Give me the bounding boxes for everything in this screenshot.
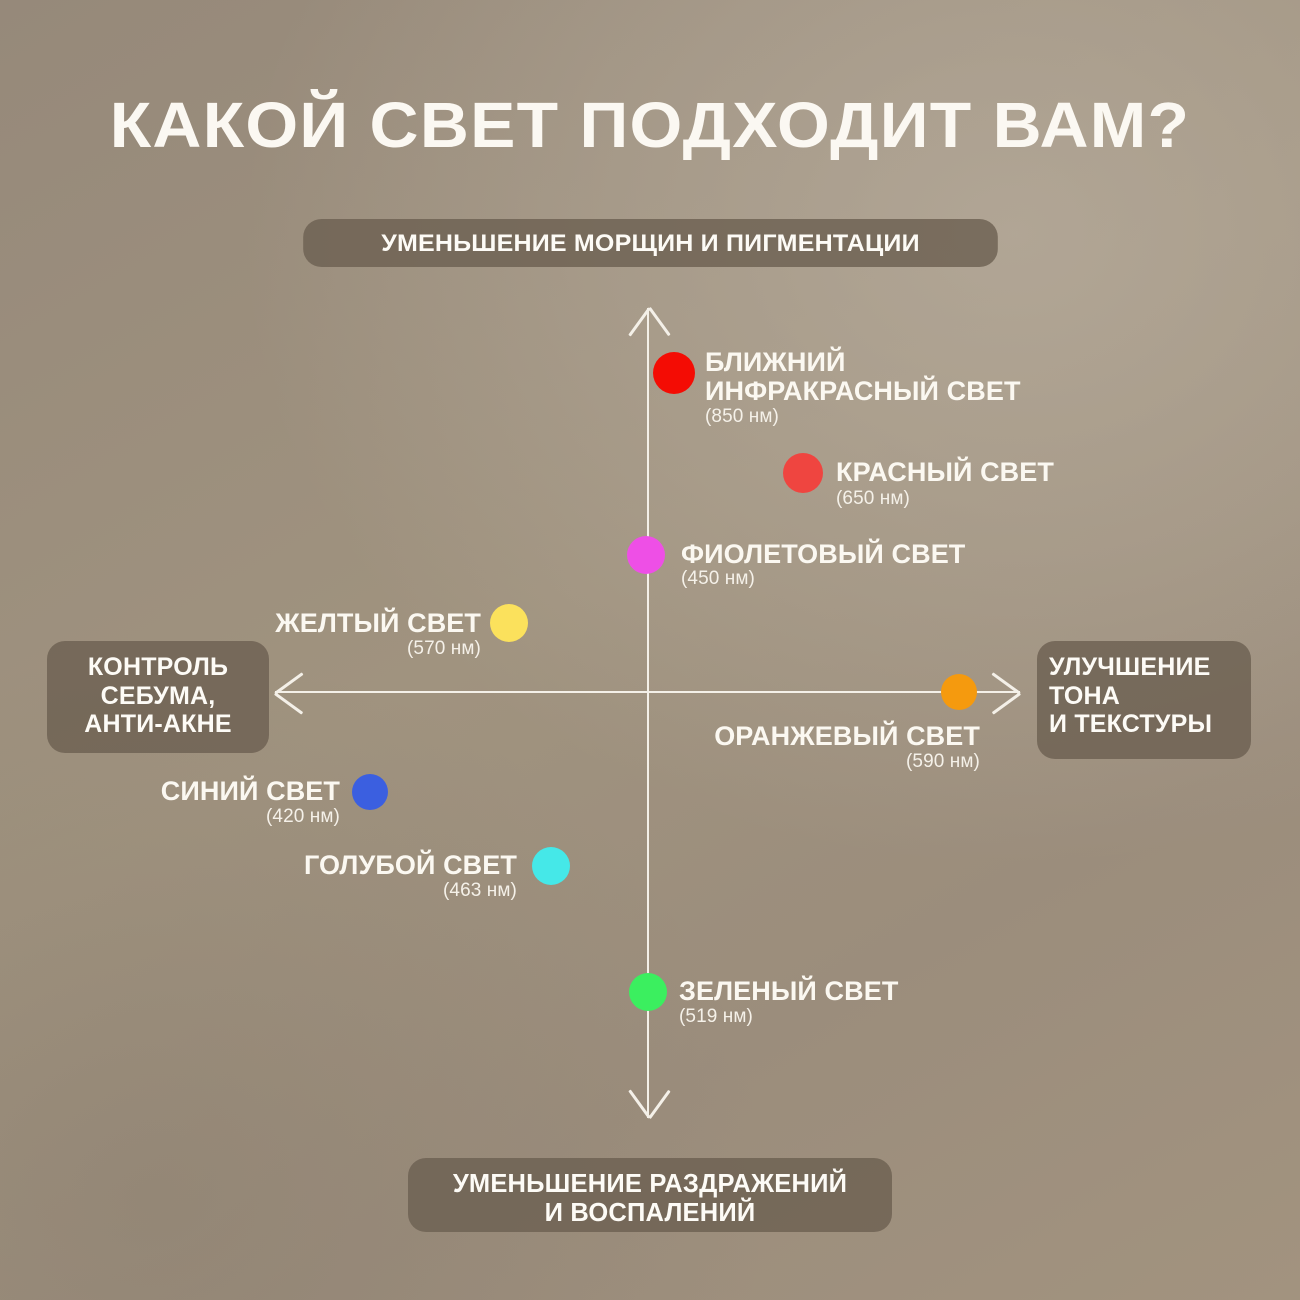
data-point-wavelength-violet: (450 нм)	[681, 568, 755, 590]
data-point-wavelength-near-infrared: (850 нм)	[705, 406, 779, 428]
horizontal-axis-line	[275, 691, 1020, 693]
data-point-yellow[interactable]	[490, 604, 528, 642]
data-point-label-blue: СИНИЙ СВЕТ	[150, 777, 340, 806]
data-point-label-red: КРАСНЫЙ СВЕТ	[836, 458, 1054, 487]
data-point-label-green: ЗЕЛЕНЫЙ СВЕТ	[679, 977, 898, 1006]
data-point-label-orange: ОРАНЖЕВЫЙ СВЕТ	[705, 722, 980, 751]
data-point-violet[interactable]	[627, 536, 665, 574]
data-point-light-blue[interactable]	[532, 847, 570, 885]
page-title: КАКОЙ СВЕТ ПОДХОДИТ ВАМ?	[0, 88, 1300, 162]
data-point-label-violet: ФИОЛЕТОВЫЙ СВЕТ	[681, 540, 965, 569]
data-point-green[interactable]	[629, 973, 667, 1011]
data-point-red[interactable]	[783, 453, 823, 493]
data-point-label-light-blue: ГОЛУБОЙ СВЕТ	[301, 851, 517, 880]
data-point-wavelength-light-blue: (463 нм)	[301, 880, 517, 902]
data-point-label-yellow: ЖЕЛТЫЙ СВЕТ	[271, 609, 481, 638]
axis-label-top: УМЕНЬШЕНИЕ МОРЩИН И ПИГМЕНТАЦИИ	[303, 219, 998, 267]
axis-label-left: КОНТРОЛЬ СЕБУМА, АНТИ-АКНЕ	[47, 641, 269, 753]
axis-label-bottom: УМЕНЬШЕНИЕ РАЗДРАЖЕНИЙ И ВОСПАЛЕНИЙ	[408, 1158, 892, 1232]
data-point-orange[interactable]	[941, 674, 977, 710]
data-point-wavelength-orange: (590 нм)	[705, 751, 980, 773]
data-point-wavelength-blue: (420 нм)	[150, 806, 340, 828]
data-point-near-infrared[interactable]	[653, 352, 695, 394]
data-point-blue[interactable]	[352, 774, 388, 810]
data-point-wavelength-red: (650 нм)	[836, 488, 910, 510]
data-point-wavelength-yellow: (570 нм)	[271, 638, 481, 660]
infographic-canvas: КАКОЙ СВЕТ ПОДХОДИТ ВАМ? УМЕНЬШЕНИЕ МОРЩ…	[0, 0, 1300, 1300]
data-point-wavelength-green: (519 нм)	[679, 1006, 753, 1028]
axis-label-right: УЛУЧШЕНИЕ ТОНА И ТЕКСТУРЫ	[1037, 641, 1251, 759]
data-point-label-near-infrared: БЛИЖНИЙ ИНФРАКРАСНЫЙ СВЕТ	[705, 348, 1021, 406]
